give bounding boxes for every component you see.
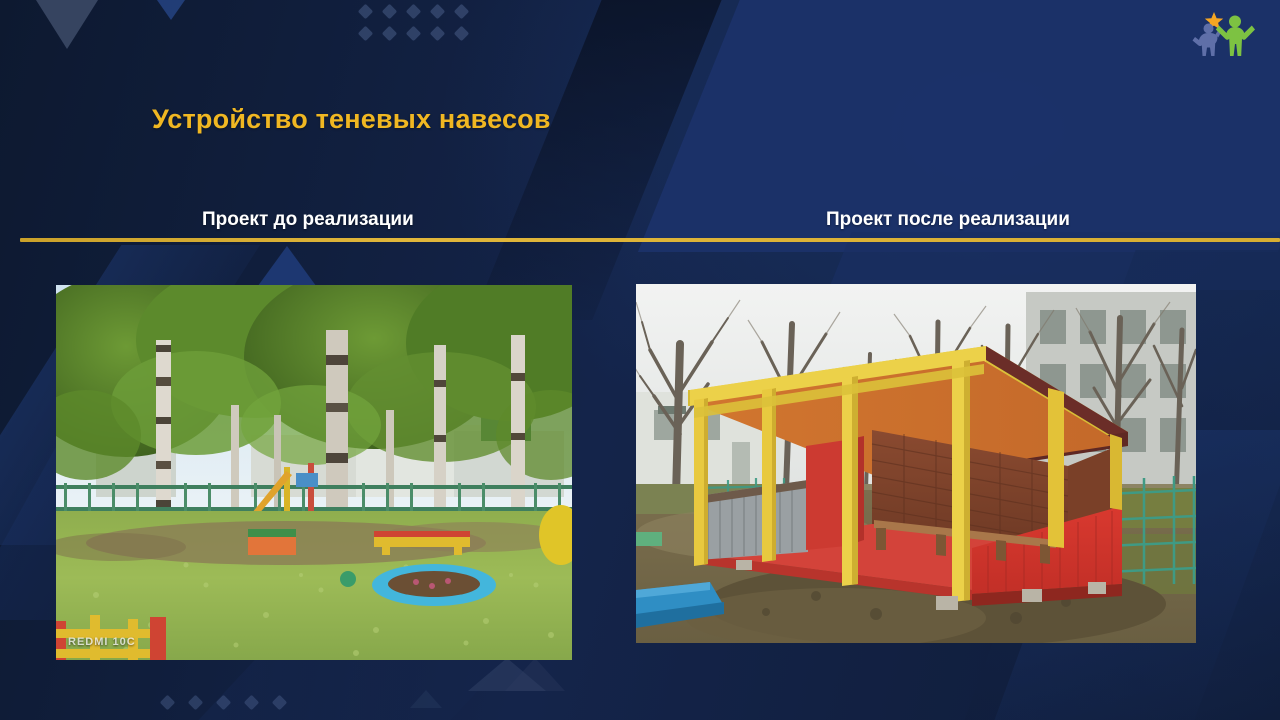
diamond-dot [358,26,374,42]
two-children-star-logo [1186,6,1258,60]
triangle-up-left-icon [255,246,319,290]
diamond-dot [454,26,470,42]
diamond-dot [188,695,204,711]
diamond-dot [430,4,446,20]
diamond-dot [244,695,260,711]
diamond-dot [160,695,176,711]
diamond-dot [430,26,446,42]
diamond-dot [382,26,398,42]
page-title: Устройство теневых навесов [152,104,551,135]
diamond-dot-grid-bottom [162,697,302,717]
diamond-dot [406,26,422,42]
diamond-dot [358,4,374,20]
triangle-up-center-secondary-icon [505,658,565,691]
gold-divider-rule [20,238,1280,242]
diamond-dot [216,695,232,711]
column-heading-before: Проект до реализации [202,209,414,231]
triangle-down-large-icon [36,0,98,49]
column-heading-after: Проект после реализации [826,209,1070,231]
diamond-dot [454,4,470,20]
playground-before-photo: REDMI 10C [56,285,572,660]
diamond-dot [382,4,398,20]
shade-canopy-after-photo [636,284,1196,643]
presentation-slide: Устройство теневых навесов Проект до реа… [0,0,1280,720]
diamond-dot [406,4,422,20]
triangle-up-small-icon [410,690,442,708]
triangle-down-small-icon [157,0,185,20]
diamond-dot [272,695,288,711]
diamond-dot-grid-top [360,6,480,50]
